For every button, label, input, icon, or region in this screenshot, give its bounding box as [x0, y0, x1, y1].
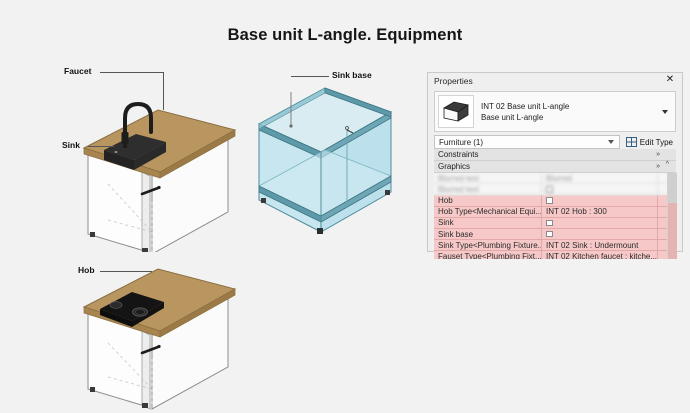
- property-value-cell[interactable]: INT 02 Sink : Undermount: [542, 240, 658, 250]
- section-graphics[interactable]: Graphics » ^: [434, 161, 676, 173]
- checkbox[interactable]: [546, 197, 553, 204]
- properties-panel[interactable]: Properties ✕ INT 02 Base unit L-angle Ba…: [427, 72, 683, 252]
- table-row[interactable]: Sink base: [434, 229, 667, 240]
- callout-leader-faucet-v: [163, 72, 164, 110]
- table-row[interactable]: Hob Type<Mechanical Equi...INT 02 Hob : …: [434, 207, 667, 218]
- property-row-tail: [658, 195, 667, 205]
- section-constraints-label: Constraints: [438, 150, 478, 159]
- box-3d-icon: [438, 95, 474, 128]
- property-value-cell[interactable]: [542, 195, 658, 205]
- property-name-cell: Sink base: [434, 229, 542, 239]
- callout-label-hob: Hob: [78, 265, 95, 275]
- scrollbar-track-lower[interactable]: [668, 203, 677, 259]
- property-row-tail: [658, 240, 667, 250]
- table-row[interactable]: Sink: [434, 218, 667, 229]
- properties-grid[interactable]: Blurred textBlurredBlurred textHobHob Ty…: [434, 173, 667, 259]
- table-row[interactable]: Hob: [434, 195, 667, 206]
- property-row-tail: [658, 229, 667, 239]
- page-title: Base unit L-angle. Equipment: [0, 26, 690, 45]
- scroll-up-icon[interactable]: ^: [666, 161, 669, 168]
- hob-unit-drawing: [80, 265, 260, 410]
- type-selector-text: INT 02 Base unit L-angle Base unit L-ang…: [481, 101, 569, 123]
- callout-leader-sink-h: [88, 146, 114, 147]
- type-selector[interactable]: INT 02 Base unit L-angle Base unit L-ang…: [434, 91, 676, 132]
- property-value-cell[interactable]: INT 02 Hob : 300: [542, 207, 658, 217]
- family-filter-value: Furniture (1): [439, 138, 483, 147]
- callout-label-faucet: Faucet: [64, 66, 91, 76]
- callout-label-sink: Sink: [62, 140, 80, 150]
- property-value-cell[interactable]: [542, 218, 658, 228]
- checkbox[interactable]: [546, 220, 553, 227]
- edit-type-button[interactable]: Edit Type: [620, 135, 676, 149]
- property-row-tail: [658, 207, 667, 217]
- chevron-down-icon[interactable]: [608, 140, 614, 144]
- property-row-tail: [658, 173, 667, 183]
- callout-leader-sink-base-h: [291, 76, 329, 77]
- edit-type-icon: [626, 137, 637, 147]
- scrollbar-thumb[interactable]: [668, 173, 677, 203]
- property-name-cell: Hob: [434, 195, 542, 205]
- chevron-down-icon[interactable]: [662, 110, 668, 114]
- properties-header: Properties ✕: [428, 73, 682, 89]
- family-name: INT 02 Base unit L-angle: [481, 101, 569, 112]
- family-filter-select[interactable]: Furniture (1): [434, 135, 620, 149]
- property-value-cell[interactable]: [542, 184, 658, 194]
- property-name-cell: Sink: [434, 218, 542, 228]
- property-value-cell[interactable]: [542, 229, 658, 239]
- property-row-tail: [658, 218, 667, 228]
- property-name-cell: Hob Type<Mechanical Equi...: [434, 207, 542, 217]
- family-filter-row: Furniture (1) Edit Type: [434, 135, 676, 149]
- table-row[interactable]: Fauset Type<Plumbing Fixt...INT 02 Kitch…: [434, 251, 667, 259]
- chevron-collapse-icon[interactable]: »: [656, 151, 660, 158]
- callout-label-sink-base: Sink base: [332, 70, 372, 80]
- property-row-tail: [658, 251, 667, 259]
- type-name: Base unit L-angle: [481, 112, 569, 123]
- table-row[interactable]: Sink Type<Plumbing Fixture...INT 02 Sink…: [434, 240, 667, 251]
- property-row-tail: [658, 184, 667, 194]
- checkbox[interactable]: [546, 231, 553, 238]
- property-value-cell[interactable]: INT 02 Kitchen faucet : kitche...: [542, 251, 658, 259]
- table-row[interactable]: Blurred textBlurred: [434, 173, 667, 184]
- section-constraints[interactable]: Constraints »: [434, 149, 676, 161]
- close-icon[interactable]: ✕: [665, 75, 675, 85]
- property-name-cell: Blurred text: [434, 184, 542, 194]
- chevron-collapse-icon[interactable]: »: [656, 163, 660, 170]
- properties-grid-wrap: Blurred textBlurredBlurred textHobHob Ty…: [434, 173, 676, 259]
- callout-leader-faucet-h: [100, 72, 163, 73]
- edit-type-label: Edit Type: [640, 138, 673, 147]
- properties-scrollbar[interactable]: [667, 173, 676, 259]
- callout-leader-hob-h: [100, 271, 152, 272]
- property-name-cell: Sink Type<Plumbing Fixture...: [434, 240, 542, 250]
- section-graphics-label: Graphics: [438, 162, 470, 171]
- property-name-cell: Blurred text: [434, 173, 542, 183]
- property-value-cell[interactable]: Blurred: [542, 173, 658, 183]
- table-row[interactable]: Blurred text: [434, 184, 667, 195]
- sink-unit-drawing: [80, 92, 260, 252]
- sink-base-unit-drawing: [255, 80, 415, 255]
- property-name-cell: Fauset Type<Plumbing Fixt...: [434, 251, 542, 259]
- checkbox[interactable]: [546, 186, 553, 193]
- properties-title: Properties: [434, 76, 473, 86]
